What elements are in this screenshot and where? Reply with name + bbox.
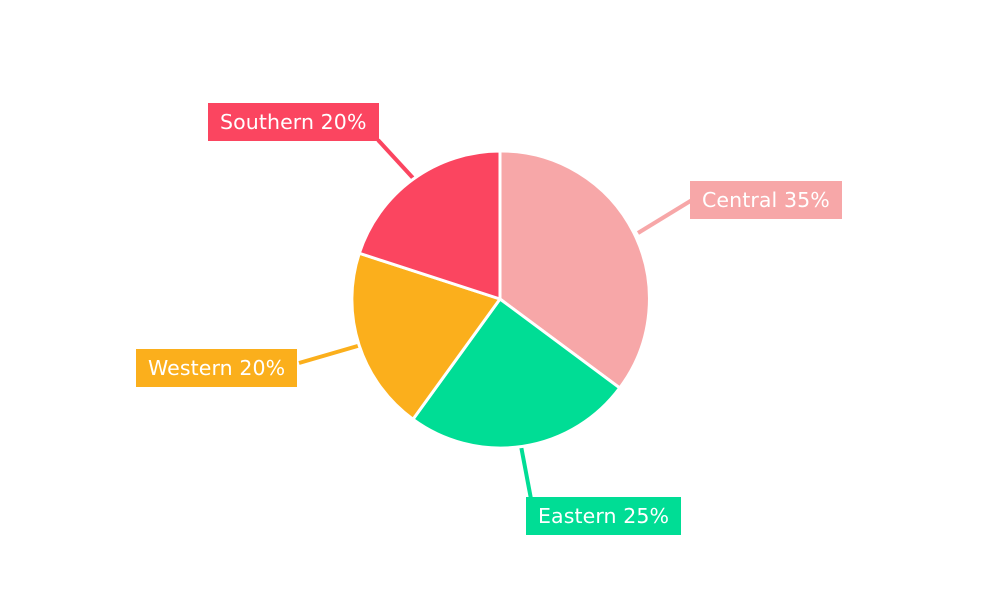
pie-label-central[interactable]: Central 35%: [690, 181, 842, 219]
pie-chart-canvas: [0, 0, 1000, 600]
leader-line-eastern: [521, 446, 531, 499]
pie-label-western[interactable]: Western 20%: [136, 349, 297, 387]
leader-line-central: [638, 200, 692, 233]
leader-line-southern: [378, 140, 413, 178]
pie-label-southern[interactable]: Southern 20%: [208, 103, 379, 141]
pie-label-eastern[interactable]: Eastern 25%: [526, 497, 681, 535]
pie-chart: Central 35% Eastern 25% Western 20% Sout…: [0, 0, 1000, 600]
leader-line-western: [299, 345, 361, 363]
